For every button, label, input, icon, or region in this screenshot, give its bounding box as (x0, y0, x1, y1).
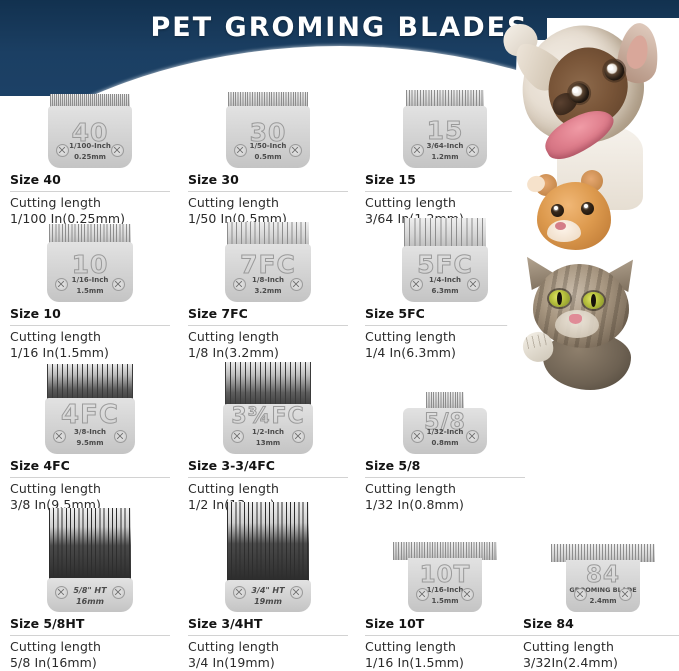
blade-face-number: 7FC (225, 250, 311, 279)
blade-caption: Size 5/8HTCutting length5/8 In(16mm) (10, 616, 170, 671)
blade-card: 101/16-Inch1.5mmSize 10Cutting length1/1… (10, 226, 170, 361)
blade-size-label: Size 40 (10, 172, 170, 188)
blade-size-label: Size 3/4HT (188, 616, 348, 632)
blade-body: 301/50-Inch0.5mm (226, 106, 310, 168)
blade-card: 3¾FC1/2-Inch13mmSize 3-3/4FCCutting leng… (188, 364, 348, 513)
blade-body: 5/81/32-Inch0.8mm (403, 408, 487, 454)
blade-screw-right (289, 144, 302, 157)
blade-screw-left (234, 144, 247, 157)
hamster-eye-left (551, 204, 564, 217)
blade-teeth (227, 222, 309, 246)
blade-illustration: 5/8" HT16mm (10, 506, 170, 612)
blade-screw-left (55, 278, 68, 291)
blade-caption: Size 5/8Cutting length1/32 In(0.8mm) (365, 458, 525, 513)
blade-size-label: Size 10T (365, 616, 525, 632)
blade-face-number: 3¾FC (223, 404, 313, 429)
blade-illustration: 3¾FC1/2-Inch13mm (188, 364, 348, 454)
caption-divider (10, 635, 170, 636)
blade-screw-right (112, 278, 125, 291)
blade-card: 5FC1/4-Inch6.3mmSize 5FCCutting length1/… (365, 226, 525, 361)
blade-teeth (227, 502, 309, 582)
blade-screw-left (233, 586, 246, 599)
blade-illustration: 10T1/16-Inch1.5mm (365, 506, 525, 612)
blade-screw-left (574, 588, 587, 601)
cutting-length-label: Cutting length (188, 329, 348, 345)
kitten-eye-right (583, 292, 604, 309)
blade-face-number: 10T (408, 562, 482, 588)
blade-screw-right (290, 586, 303, 599)
hamster-nose (555, 222, 566, 230)
blade-screw-right (461, 588, 474, 601)
blade-screw-left (53, 430, 66, 443)
caption-divider (10, 325, 170, 326)
blade-caption: Size 10TCutting length1/16 In(1.5mm) (365, 616, 525, 671)
blade-screw-left (416, 588, 429, 601)
caption-divider (188, 477, 348, 478)
blade-teeth (47, 364, 133, 400)
kitten-head (533, 264, 629, 348)
blade-size-label: Size 30 (188, 172, 348, 188)
kitten-muzzle (555, 310, 599, 338)
blade-teeth (225, 362, 311, 406)
kitten-eye-left (549, 290, 570, 307)
blade-size-label: Size 3-3/4FC (188, 458, 348, 474)
blade-card: 5/8" HT16mmSize 5/8HTCutting length5/8 I… (10, 506, 170, 671)
blade-body: 5FC1/4-Inch6.3mm (402, 246, 488, 302)
blade-screw-right (290, 278, 303, 291)
cutting-length-label: Cutting length (523, 639, 679, 655)
kitten-nose (569, 314, 582, 324)
blade-screw-right (619, 588, 632, 601)
blade-screw-left (55, 586, 68, 599)
blade-screw-left (410, 278, 423, 291)
blade-body: 5/8" HT16mm (47, 578, 133, 612)
blade-size-label: Size 4FC (10, 458, 170, 474)
blade-caption: Size 3/4HTCutting length3/4 In(19mm) (188, 616, 348, 671)
blade-illustration: 153/64-Inch1.2mm (365, 96, 525, 168)
page-title: PET GROMING BLADES (0, 12, 679, 43)
blade-screw-right (466, 144, 479, 157)
hamster-eye-right (581, 202, 594, 215)
kitten-tabby-stripes (533, 264, 629, 348)
blade-card: 301/50-Inch0.5mmSize 30Cutting length1/5… (188, 96, 348, 227)
blade-body: 10T1/16-Inch1.5mm (408, 558, 482, 612)
cutting-length-label: Cutting length (188, 195, 348, 211)
blade-screw-left (56, 144, 69, 157)
caption-divider (188, 325, 348, 326)
blade-screw-left (231, 430, 244, 443)
blade-screw-right (114, 430, 127, 443)
caption-divider (188, 191, 348, 192)
blade-body: 401/100-Inch0.25mm (48, 106, 132, 168)
blade-illustration: 84GROOMING BLADE2.4mm (523, 506, 679, 612)
kitten-ear-right (599, 256, 633, 292)
caption-divider (365, 477, 525, 478)
blade-card: 153/64-Inch1.2mmSize 15Cutting length3/6… (365, 96, 525, 227)
hamster-ear-right (581, 170, 603, 192)
blade-card: 7FC1/8-Inch3.2mmSize 7FCCutting length1/… (188, 226, 348, 361)
cutting-length-value: 1/16 In(1.5mm) (10, 345, 170, 361)
hamster-ear-left (535, 174, 557, 196)
caption-divider (365, 191, 525, 192)
blade-face-number: 84 (566, 562, 640, 588)
blade-screw-right (467, 278, 480, 291)
hamster-head (537, 182, 611, 250)
page-header: PET GROMING BLADES (0, 0, 679, 96)
blade-teeth (404, 218, 486, 248)
cutting-length-value: 3/4 In(19mm) (188, 655, 348, 671)
blade-body: 84GROOMING BLADE2.4mm (566, 560, 640, 612)
blade-card: 5/81/32-Inch0.8mmSize 5/8Cutting length1… (365, 364, 525, 513)
blade-body: 4FC3/8-Inch9.5mm (45, 398, 135, 454)
cutting-length-label: Cutting length (10, 639, 170, 655)
blade-illustration: 4FC3/8-Inch9.5mm (10, 364, 170, 454)
kitten-ear-left (527, 254, 561, 290)
kitten-body (543, 332, 631, 390)
hamster-image (525, 168, 621, 260)
blade-body: 3/4" HT19mm (225, 580, 311, 612)
blade-size-label: Size 15 (365, 172, 525, 188)
blade-illustration: 301/50-Inch0.5mm (188, 96, 348, 168)
cutting-length-label: Cutting length (10, 329, 170, 345)
infographic-page: PET GROMING BLADES (0, 0, 679, 671)
blade-teeth (49, 224, 131, 244)
blade-screw-right (111, 144, 124, 157)
blade-face-number: 10 (47, 250, 133, 279)
caption-divider (10, 191, 170, 192)
blade-caption: Size 30Cutting length1/50 In(0.5mm) (188, 172, 348, 227)
cutting-length-value: 1/8 In(3.2mm) (188, 345, 348, 361)
blade-size-label: Size 84 (523, 616, 679, 632)
caption-divider (188, 635, 348, 636)
blade-size-label: Size 5FC (365, 306, 525, 322)
blade-card: 84GROOMING BLADE2.4mmSize 84Cutting leng… (523, 506, 679, 671)
blade-screw-right (292, 430, 305, 443)
blade-body: 3¾FC1/2-Inch13mm (223, 404, 313, 454)
cutting-length-label: Cutting length (365, 639, 525, 655)
blade-screw-left (411, 144, 424, 157)
header-arc-decoration (0, 46, 679, 96)
cutting-length-value: 5/8 In(16mm) (10, 655, 170, 671)
cutting-length-value: 3/32In(2.4mm) (523, 655, 679, 671)
blade-caption: Size 40Cutting length1/100 In(0.25mm) (10, 172, 170, 227)
kitten-paw (520, 329, 556, 365)
blade-size-label: Size 7FC (188, 306, 348, 322)
blade-illustration: 101/16-Inch1.5mm (10, 226, 170, 302)
blade-caption: Size 5FCCutting length1/4 In(6.3mm) (365, 306, 525, 361)
blade-caption: Size 84Cutting length3/32In(2.4mm) (523, 616, 679, 671)
cutting-length-label: Cutting length (188, 639, 348, 655)
blade-screw-left (233, 278, 246, 291)
blade-body: 101/16-Inch1.5mm (47, 242, 133, 302)
blade-screw-left (411, 430, 424, 443)
blade-illustration: 401/100-Inch0.25mm (10, 96, 170, 168)
blade-size-label: Size 10 (10, 306, 170, 322)
blade-screw-right (466, 430, 479, 443)
blade-caption: Size 10Cutting length1/16 In(1.5mm) (10, 306, 170, 361)
blade-face-number: 4FC (45, 400, 135, 430)
cutting-length-value: 1/4 In(6.3mm) (365, 345, 525, 361)
blade-face-number: 5FC (402, 250, 488, 279)
cutting-length-value: 1/16 In(1.5mm) (365, 655, 525, 671)
cutting-length-label: Cutting length (10, 481, 170, 497)
caption-divider (523, 635, 679, 636)
blade-illustration: 3/4" HT19mm (188, 506, 348, 612)
caption-divider (365, 325, 525, 326)
cutting-length-label: Cutting length (188, 481, 348, 497)
dog-tongue (539, 101, 620, 166)
cutting-length-label: Cutting length (10, 195, 170, 211)
blade-teeth (49, 508, 131, 580)
blade-body: 7FC1/8-Inch3.2mm (225, 244, 311, 302)
caption-divider (365, 635, 525, 636)
hamster-paw (525, 174, 547, 195)
kitten-image (517, 254, 647, 394)
blade-screw-right (112, 586, 125, 599)
blade-card: 3/4" HT19mmSize 3/4HTCutting length3/4 I… (188, 506, 348, 671)
blade-face-number: 15 (403, 116, 487, 145)
blade-size-label: Size 5/8HT (10, 616, 170, 632)
blade-card: 4FC3/8-Inch9.5mmSize 4FCCutting length3/… (10, 364, 170, 513)
blade-illustration: 5/81/32-Inch0.8mm (365, 364, 525, 454)
cutting-length-label: Cutting length (365, 481, 525, 497)
blade-caption: Size 7FCCutting length1/8 In(3.2mm) (188, 306, 348, 361)
dog-body (557, 126, 643, 210)
blade-size-label: Size 5/8 (365, 458, 525, 474)
blade-card: 10T1/16-Inch1.5mmSize 10TCutting length1… (365, 506, 525, 671)
cutting-length-label: Cutting length (365, 329, 525, 345)
cutting-length-label: Cutting length (365, 195, 525, 211)
blade-illustration: 5FC1/4-Inch6.3mm (365, 226, 525, 302)
hamster-snout (547, 220, 581, 242)
blade-caption: Size 4FCCutting length3/8 In(9.5mm) (10, 458, 170, 513)
blade-body: 153/64-Inch1.2mm (403, 106, 487, 168)
blade-card: 401/100-Inch0.25mmSize 40Cutting length1… (10, 96, 170, 227)
caption-divider (10, 477, 170, 478)
blade-illustration: 7FC1/8-Inch3.2mm (188, 226, 348, 302)
